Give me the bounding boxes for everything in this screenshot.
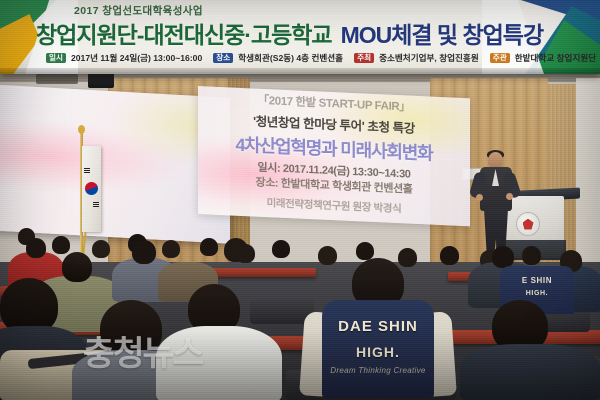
flag-trigram-tl	[84, 168, 90, 174]
banner-title-organizations: 창업지원단-대전대신중·고등학교	[36, 16, 332, 50]
flag-trigram-br	[93, 202, 99, 208]
varsity-high-label: HIGH.	[322, 344, 434, 360]
audience-torso-foreground-right	[460, 344, 600, 400]
banner-meta-tag-datetime: 일시	[46, 53, 66, 63]
audience-head	[318, 246, 337, 265]
projection-screen-left	[0, 84, 230, 244]
audience-head	[398, 248, 417, 267]
banner-meta-tag-venue: 장소	[213, 53, 233, 63]
varsity-motto: Dream Thinking Creative	[322, 366, 434, 375]
banner-title-event: MOU체결 및 창업특강	[341, 16, 544, 50]
flag-cloth	[82, 146, 101, 232]
audience-head	[162, 240, 180, 258]
audience-head	[62, 252, 92, 282]
audience-head	[440, 246, 459, 265]
varsity-jacket-small-text: E SHIN	[500, 276, 574, 285]
audience-head	[224, 238, 248, 262]
banner-title: 창업지원단-대전대신중·고등학교 MOU체결 및 창업특강	[36, 17, 566, 48]
audience-head	[132, 240, 156, 264]
news-watermark: 충청뉴스	[83, 326, 202, 375]
presenter-hand-left	[476, 194, 483, 201]
banner-meta: 일시 2017년 11월 24일(금) 13:00~16:00 장소 학생회관(…	[46, 51, 566, 65]
banner-meta-tag-organizer: 주관	[490, 53, 510, 63]
audience-head	[356, 242, 374, 260]
banner-meta-tag-host: 주최	[354, 53, 374, 63]
audience-head	[92, 240, 110, 258]
audience-head	[26, 238, 46, 258]
banner-meta-value-datetime: 2017년 11월 24일(금) 13:00~16:00	[71, 52, 202, 64]
banner-meta-value-organizer: 한밭대학교 창업지원단	[515, 52, 596, 64]
event-photo: 「2017 한밭 START-UP FAIR」 '청년창업 한마당 투어' 초청…	[0, 0, 600, 400]
flag-finial	[78, 125, 85, 134]
audience-head	[52, 236, 70, 254]
audience-head	[522, 246, 541, 265]
flag-taegeuk	[85, 182, 98, 195]
projector-mount	[36, 74, 78, 84]
banner-meta-value-venue: 학생회관(S2동) 4층 컨벤션홀	[238, 52, 343, 64]
varsity-jacket-small-text2: HIGH.	[500, 290, 574, 297]
banner-meta-value-host: 중소벤처기업부, 창업진흥원	[379, 52, 479, 64]
presenter-hand-right	[506, 193, 513, 200]
banner-content: 2017 창업선도대학육성사업 창업지원단-대전대신중·고등학교 MOU체결 및…	[0, 0, 600, 74]
varsity-school-name: DAE SHIN	[322, 318, 434, 335]
event-banner: 2017 창업선도대학육성사업 창업지원단-대전대신중·고등학교 MOU체결 및…	[0, 0, 600, 74]
varsity-jacket-foreground: DAE SHIN HIGH. Dream Thinking Creative	[322, 300, 434, 398]
projected-slide: 「2017 한밭 START-UP FAIR」 '청년창업 한마당 투어' 초청…	[198, 86, 470, 226]
audience-head	[272, 240, 290, 258]
audience-head	[200, 238, 218, 256]
audience-head	[492, 246, 514, 268]
